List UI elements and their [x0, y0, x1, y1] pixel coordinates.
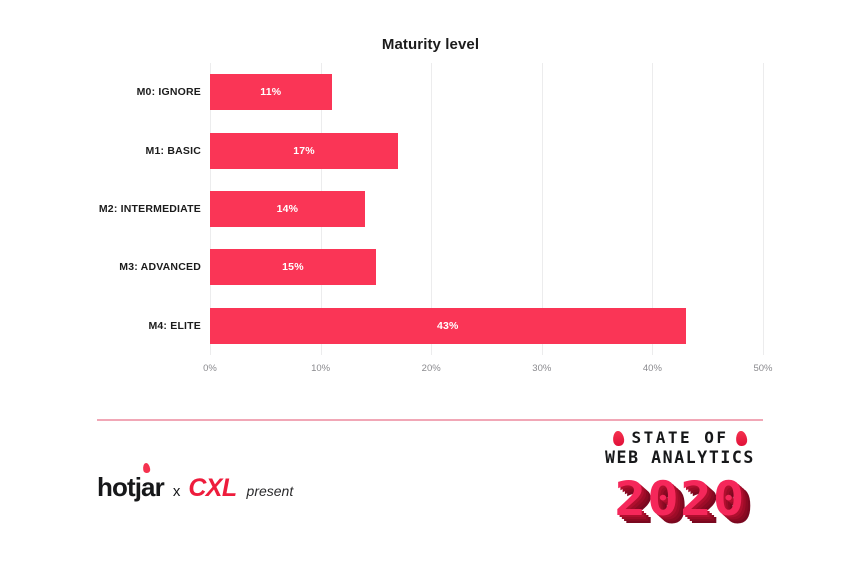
bar[interactable]: 14% [210, 191, 365, 227]
x-axis-tick-label: 10% [311, 363, 330, 374]
bar-series: M0: IGNORE11%M1: BASIC17%M2: INTERMEDIAT… [210, 63, 763, 355]
bar-value-label: 17% [293, 145, 315, 157]
logo-line-1: STATE OF [575, 428, 785, 448]
hotjar-cxl-branding: hotjar x CXL present [97, 472, 293, 503]
gridline [763, 63, 764, 355]
category-label: M1: BASIC [146, 133, 201, 169]
x-axis-tick-label: 20% [422, 363, 441, 374]
x-axis-tick-label: 40% [643, 363, 662, 374]
bar-row: M4: ELITE43% [210, 308, 763, 344]
category-label: M0: IGNORE [137, 74, 201, 110]
state-of-web-analytics-logo: STATE OF WEB ANALYTICS 2020 [575, 428, 785, 528]
collab-separator: x [173, 483, 181, 500]
bar-row: M0: IGNORE11% [210, 74, 763, 110]
bar[interactable]: 17% [210, 133, 398, 169]
flame-icon-left [613, 430, 626, 446]
bar[interactable]: 43% [210, 308, 686, 344]
logo-line-2: WEB ANALYTICS [575, 448, 785, 470]
category-label: M3: ADVANCED [119, 249, 201, 285]
chart-page: Maturity level M0: IGNORE11%M1: BASIC17%… [0, 0, 861, 573]
plot-area: M0: IGNORE11%M1: BASIC17%M2: INTERMEDIAT… [210, 63, 763, 355]
cxl-logo: CXL [188, 474, 236, 503]
x-axis-tick-label: 0% [203, 363, 217, 374]
bar-row: M2: INTERMEDIATE14% [210, 191, 763, 227]
category-label: M2: INTERMEDIATE [99, 191, 201, 227]
bar[interactable]: 11% [210, 74, 332, 110]
footer-divider [97, 419, 763, 421]
logo-year: 2020 [562, 474, 797, 526]
bar-value-label: 15% [282, 261, 304, 273]
bar-value-label: 11% [260, 86, 281, 98]
x-axis-tick-label: 50% [753, 363, 772, 374]
category-label: M4: ELITE [148, 308, 201, 344]
bar[interactable]: 15% [210, 249, 376, 285]
present-label: present [247, 483, 294, 499]
logo-web-analytics-text: WEB ANALYTICS [605, 448, 755, 467]
bar-value-label: 14% [277, 203, 299, 215]
x-axis-tick-label: 30% [532, 363, 551, 374]
bar-row: M3: ADVANCED15% [210, 249, 763, 285]
flame-icon-right [735, 430, 748, 446]
flame-icon [142, 463, 150, 474]
chart-container: M0: IGNORE11%M1: BASIC17%M2: INTERMEDIAT… [0, 0, 861, 400]
bar-row: M1: BASIC17% [210, 133, 763, 169]
bar-value-label: 43% [437, 320, 459, 332]
logo-state-of-text: STATE OF [631, 428, 728, 448]
hotjar-wordmark: hotjar [97, 472, 164, 502]
hotjar-logo: hotjar [97, 472, 164, 503]
